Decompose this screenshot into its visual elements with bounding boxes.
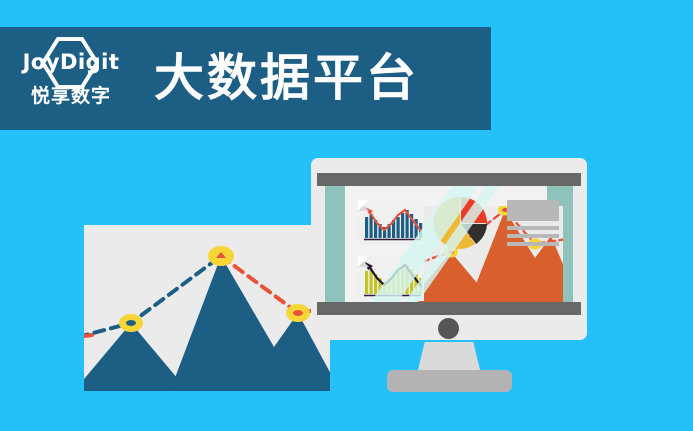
bar-group — [365, 210, 422, 238]
brand-logo: JoyDigit 悦享数字 — [14, 33, 128, 125]
poster-canvas: JoyDigit 悦享数字 大数据平台 — [0, 0, 693, 431]
page-title: 大数据平台 — [154, 53, 419, 103]
text-block-header — [507, 200, 559, 221]
monitor-screen — [325, 186, 573, 302]
screen-left-band — [325, 186, 345, 302]
logo-subtitle: 悦享数字 — [31, 87, 111, 106]
logo-wordmark: JoyDigit — [23, 52, 120, 73]
text-block-line — [507, 226, 559, 230]
data-marker — [286, 304, 310, 322]
monitor-bottom-bezel — [317, 302, 581, 315]
monitor-top-bezel — [317, 173, 581, 186]
data-marker — [119, 314, 143, 332]
monitor-power-knob[interactable] — [438, 318, 459, 339]
desktop-monitor — [311, 158, 587, 340]
text-block-line — [507, 242, 559, 246]
monitor-base — [387, 370, 512, 392]
report-text-block — [507, 200, 559, 245]
left-mountain-chart — [84, 225, 330, 391]
text-block-line — [507, 234, 559, 238]
header-banner: JoyDigit 悦享数字 大数据平台 — [0, 27, 491, 130]
data-marker — [208, 246, 234, 266]
trend-line-red-stub — [84, 335, 92, 337]
